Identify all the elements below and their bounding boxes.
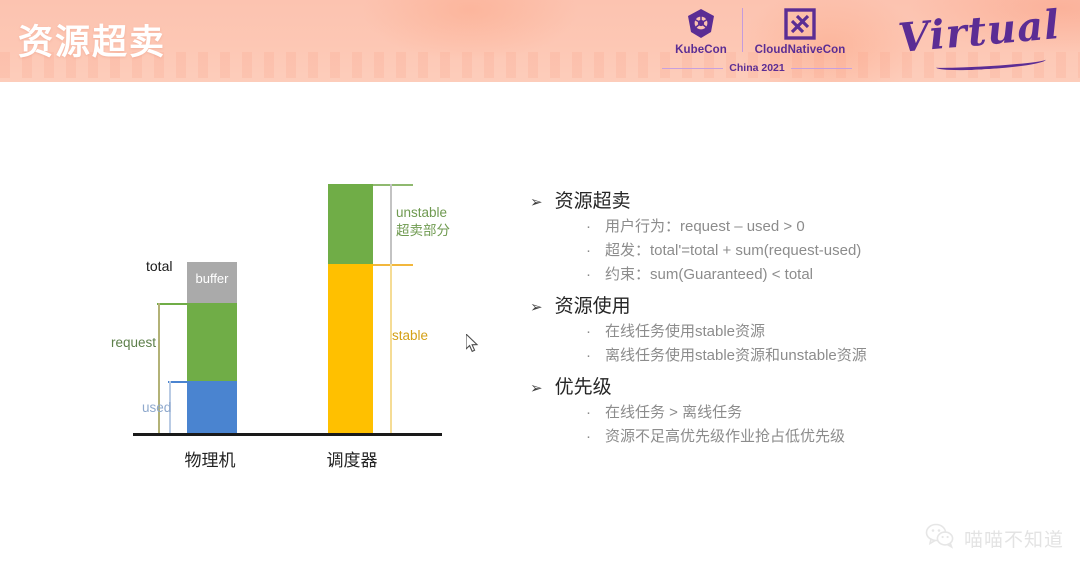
content-heading-usage-label: 资源使用 <box>555 291 631 318</box>
annotation-total: total <box>146 258 172 274</box>
channel-watermark: 喵喵不知道 <box>925 523 1064 554</box>
content-heading-oversell-label: 资源超卖 <box>555 186 631 213</box>
guide-unstable-vertical <box>390 184 392 264</box>
annotation-unstable-en: unstable <box>396 205 447 220</box>
edition-rule-right <box>791 68 852 69</box>
kubernetes-helm-icon <box>662 4 740 44</box>
bar-segment-buffer-label: buffer <box>187 271 237 286</box>
slide-header-banner: 资源超卖 KubeCon <box>0 0 1080 82</box>
dot-bullet-icon: · <box>586 429 591 444</box>
dot-bullet-icon: · <box>586 267 591 282</box>
dot-bullet-icon: · <box>586 405 591 420</box>
kubecon-label: KubeCon <box>662 44 740 56</box>
resource-oversell-chart: buffer total request used unstable 超卖部分 … <box>0 82 500 502</box>
dot-bullet-icon: · <box>586 243 591 258</box>
content-group-usage: ➢ 资源使用 · 在线任务使用stable资源 · 离线任务使用stable资源… <box>530 291 1050 365</box>
dot-bullet-icon: · <box>586 219 591 234</box>
guide-unstable-top-tick <box>373 184 413 186</box>
list-item-label: 约束：sum(Guaranteed) < total <box>605 263 813 284</box>
list-item: · 资源不足高优先级作业抢占低优先级 <box>586 425 1050 446</box>
bar-segment-stable <box>328 264 373 433</box>
cloudnativecon-logo: CloudNativeCon <box>748 4 852 56</box>
list-item-label: 用户行为：request – used > 0 <box>605 215 805 236</box>
list-item: · 用户行为：request – used > 0 <box>586 215 1050 236</box>
list-item: · 在线任务使用stable资源 <box>586 320 1050 341</box>
chart-baseline-axis <box>133 433 442 436</box>
mouse-pointer-icon <box>466 334 480 359</box>
edition-rule-left <box>662 68 723 69</box>
annotation-unstable-cn: 超卖部分 <box>396 223 450 238</box>
annotation-request: request <box>111 335 156 350</box>
list-item-label: 离线任务使用stable资源和unstable资源 <box>605 344 867 365</box>
conference-logo-cluster: KubeCon CloudNativeCon China 2021 <box>662 4 852 80</box>
content-heading-usage: ➢ 资源使用 <box>530 291 1050 318</box>
annotation-stable: stable <box>392 328 428 343</box>
list-item: · 约束：sum(Guaranteed) < total <box>586 263 1050 284</box>
bar-segment-request <box>187 303 237 381</box>
content-group-oversell: ➢ 资源超卖 · 用户行为：request – used > 0 · 超发：to… <box>530 186 1050 284</box>
arrow-bullet-icon: ➢ <box>530 381 543 396</box>
list-item-label: 在线任务使用stable资源 <box>605 320 765 341</box>
dot-bullet-icon: · <box>586 324 591 339</box>
content-heading-oversell: ➢ 资源超卖 <box>530 186 1050 213</box>
content-heading-priority-label: 优先级 <box>555 372 612 399</box>
logo-divider <box>742 8 743 52</box>
kubecon-logo: KubeCon <box>662 4 740 56</box>
content-group-priority: ➢ 优先级 · 在线任务 > 离线任务 · 资源不足高优先级作业抢占低优先级 <box>530 372 1050 446</box>
category-label-scheduler: 调度器 <box>292 446 412 471</box>
conference-edition-label: China 2021 <box>729 62 784 74</box>
cloudnativecon-label: CloudNativeCon <box>748 44 852 56</box>
arrow-bullet-icon: ➢ <box>530 195 543 210</box>
guide-used-top-tick <box>168 381 190 383</box>
annotation-unstable: unstable 超卖部分 <box>396 204 450 240</box>
guide-stable-top-tick <box>373 264 413 266</box>
list-item: · 在线任务 > 离线任务 <box>586 401 1050 422</box>
slide-body-content: ➢ 资源超卖 · 用户行为：request – used > 0 · 超发：to… <box>530 186 1050 453</box>
wechat-icon <box>925 523 955 554</box>
bar-segment-used <box>187 381 237 433</box>
list-item-label: 资源不足高优先级作业抢占低优先级 <box>605 425 845 446</box>
list-item: · 离线任务使用stable资源和unstable资源 <box>586 344 1050 365</box>
content-heading-priority: ➢ 优先级 <box>530 372 1050 399</box>
list-item-label: 超发：total'=total + sum(request-used) <box>605 239 861 260</box>
arrow-bullet-icon: ➢ <box>530 300 543 315</box>
cloud-native-square-icon <box>748 4 852 44</box>
bar-segment-buffer: buffer <box>187 262 237 303</box>
list-item-label: 在线任务 > 离线任务 <box>605 401 742 422</box>
list-item: · 超发：total'=total + sum(request-used) <box>586 239 1050 260</box>
bar-segment-unstable <box>328 184 373 264</box>
conference-edition-row: China 2021 <box>662 62 852 74</box>
guide-stable-vertical <box>390 264 392 433</box>
dot-bullet-icon: · <box>586 348 591 363</box>
annotation-used: used <box>142 400 171 415</box>
page-title: 资源超卖 <box>18 14 166 65</box>
watermark-label: 喵喵不知道 <box>964 525 1064 552</box>
category-label-physical-machine: 物理机 <box>150 446 270 471</box>
guide-request-top-tick <box>157 303 189 305</box>
